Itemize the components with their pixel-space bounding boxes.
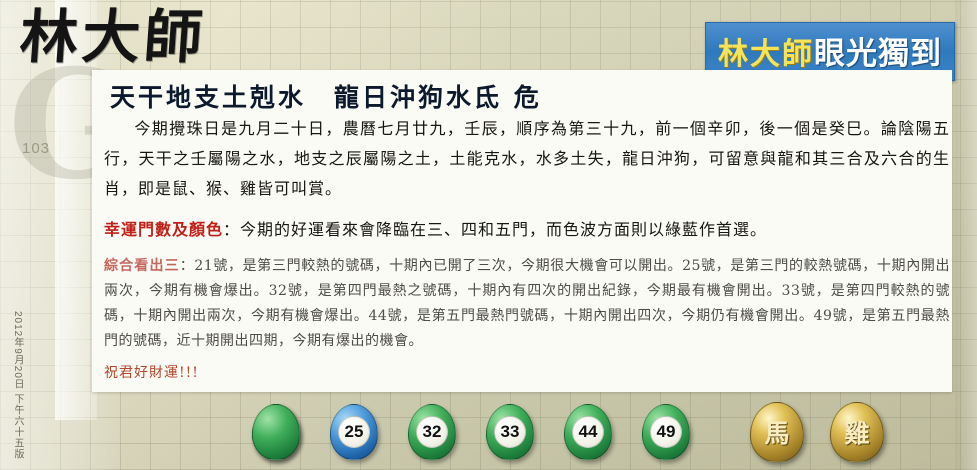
lottery-ball[interactable]: 44 xyxy=(564,404,612,460)
newspaper-column-page: G 103 林大師 林大師眼光獨到 天干地支土剋水 龍日沖狗水氐 危 今期攪珠日… xyxy=(0,0,977,470)
lucky-text: ：今期的好運看來會降臨在三、四和五門，而色波方面則以綠藍作首選。 xyxy=(223,220,767,239)
ball-number: 25 xyxy=(338,416,370,448)
ball-number: 33 xyxy=(494,416,526,448)
watermark-number: 103 xyxy=(22,140,50,157)
side-date-strip: 2012年9月20日 下午六十五版 xyxy=(10,311,25,460)
wish-line: 祝君好財運!!! xyxy=(104,362,950,382)
lottery-ball[interactable]: 49 xyxy=(642,404,690,460)
zodiac-glyph: 馬 xyxy=(764,414,789,450)
lucky-line: 幸運門數及顏色：今期的好運看來會降臨在三、四和五門，而色波方面則以綠藍作首選。 xyxy=(104,216,950,244)
ball-number: 49 xyxy=(650,416,682,448)
lucky-label: 幸運門數及顏色 xyxy=(104,220,223,239)
article-body: 今期攪珠日是九月二十日，農曆七月廿九，壬辰，順序為第三十九，前一個辛卯，後一個是… xyxy=(104,114,950,382)
zodiac-ball-horse[interactable]: 馬 xyxy=(750,402,804,462)
banner-rest-text: 眼光獨到 xyxy=(814,36,942,72)
summary-label: 綜合看出三 xyxy=(104,258,180,274)
lottery-ball[interactable]: 33 xyxy=(486,404,534,460)
ball-number: 32 xyxy=(416,416,448,448)
article-headline: 天干地支土剋水 龍日沖狗水氐 危 xyxy=(110,78,710,114)
summary-block: 綜合看出三：21號，是第三門較熱的號碼，十期內已開了三次，今期很大機會可以開出。… xyxy=(104,254,950,354)
lottery-ball[interactable]: 25 xyxy=(330,404,378,460)
article-paragraph-1: 今期攪珠日是九月二十日，農曆七月廿九，壬辰，順序為第三十九，前一個辛卯，後一個是… xyxy=(104,114,950,204)
banner-highlight-text: 林大師 xyxy=(718,37,814,72)
paragraph-1-text: 今期攪珠日是九月二十日，農曆七月廿九，壬辰，順序為第三十九，前一個辛卯，後一個是… xyxy=(104,119,950,198)
ball-number: 44 xyxy=(572,416,604,448)
summary-text: ：21號，是第三門較熱的號碼，十期內已開了三次，今期很大機會可以開出。25號，是… xyxy=(104,258,950,349)
background-right-edge xyxy=(955,0,977,470)
zodiac-glyph: 雞 xyxy=(844,414,869,450)
recommended-numbers-row: 21 25 32 33 44 49 馬 雞 xyxy=(252,404,952,466)
masthead-brush-title: 林大師 xyxy=(18,8,208,66)
zodiac-ball-rooster[interactable]: 雞 xyxy=(830,402,884,462)
lottery-ball[interactable]: 32 xyxy=(408,404,456,460)
